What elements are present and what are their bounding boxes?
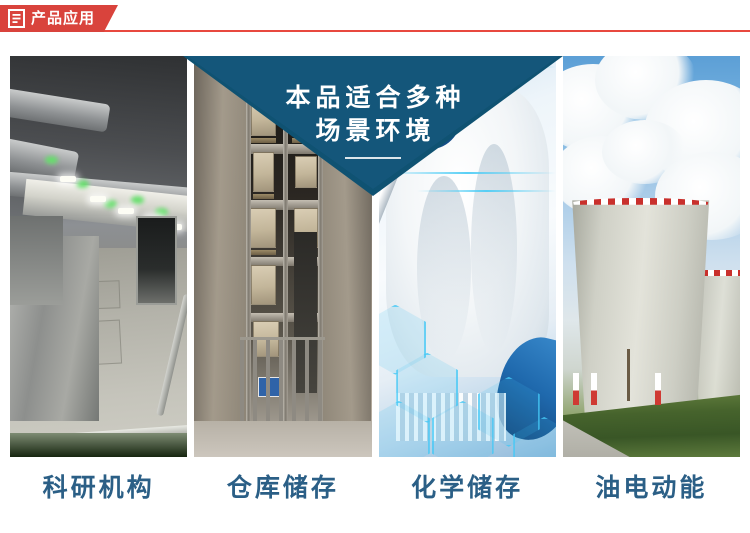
application-image-row bbox=[10, 56, 740, 457]
section-header: 产品应用 bbox=[0, 0, 750, 40]
application-image-research bbox=[10, 56, 187, 457]
application-image-power bbox=[563, 56, 740, 457]
product-application-section: 产品应用 bbox=[0, 0, 750, 533]
caption-research: 科研机构 bbox=[10, 463, 187, 513]
caption-row: 科研机构 仓库储存 化学储存 油电动能 bbox=[10, 463, 740, 513]
application-image-warehouse bbox=[194, 56, 371, 457]
caption-warehouse: 仓库储存 bbox=[194, 463, 371, 513]
document-list-icon bbox=[8, 9, 25, 28]
header-tab: 产品应用 bbox=[0, 5, 118, 32]
page-title: 产品应用 bbox=[31, 11, 95, 26]
application-image-chemical bbox=[379, 56, 556, 457]
caption-chemical: 化学储存 bbox=[379, 463, 556, 513]
header-rule bbox=[0, 30, 750, 32]
caption-power: 油电动能 bbox=[563, 463, 740, 513]
